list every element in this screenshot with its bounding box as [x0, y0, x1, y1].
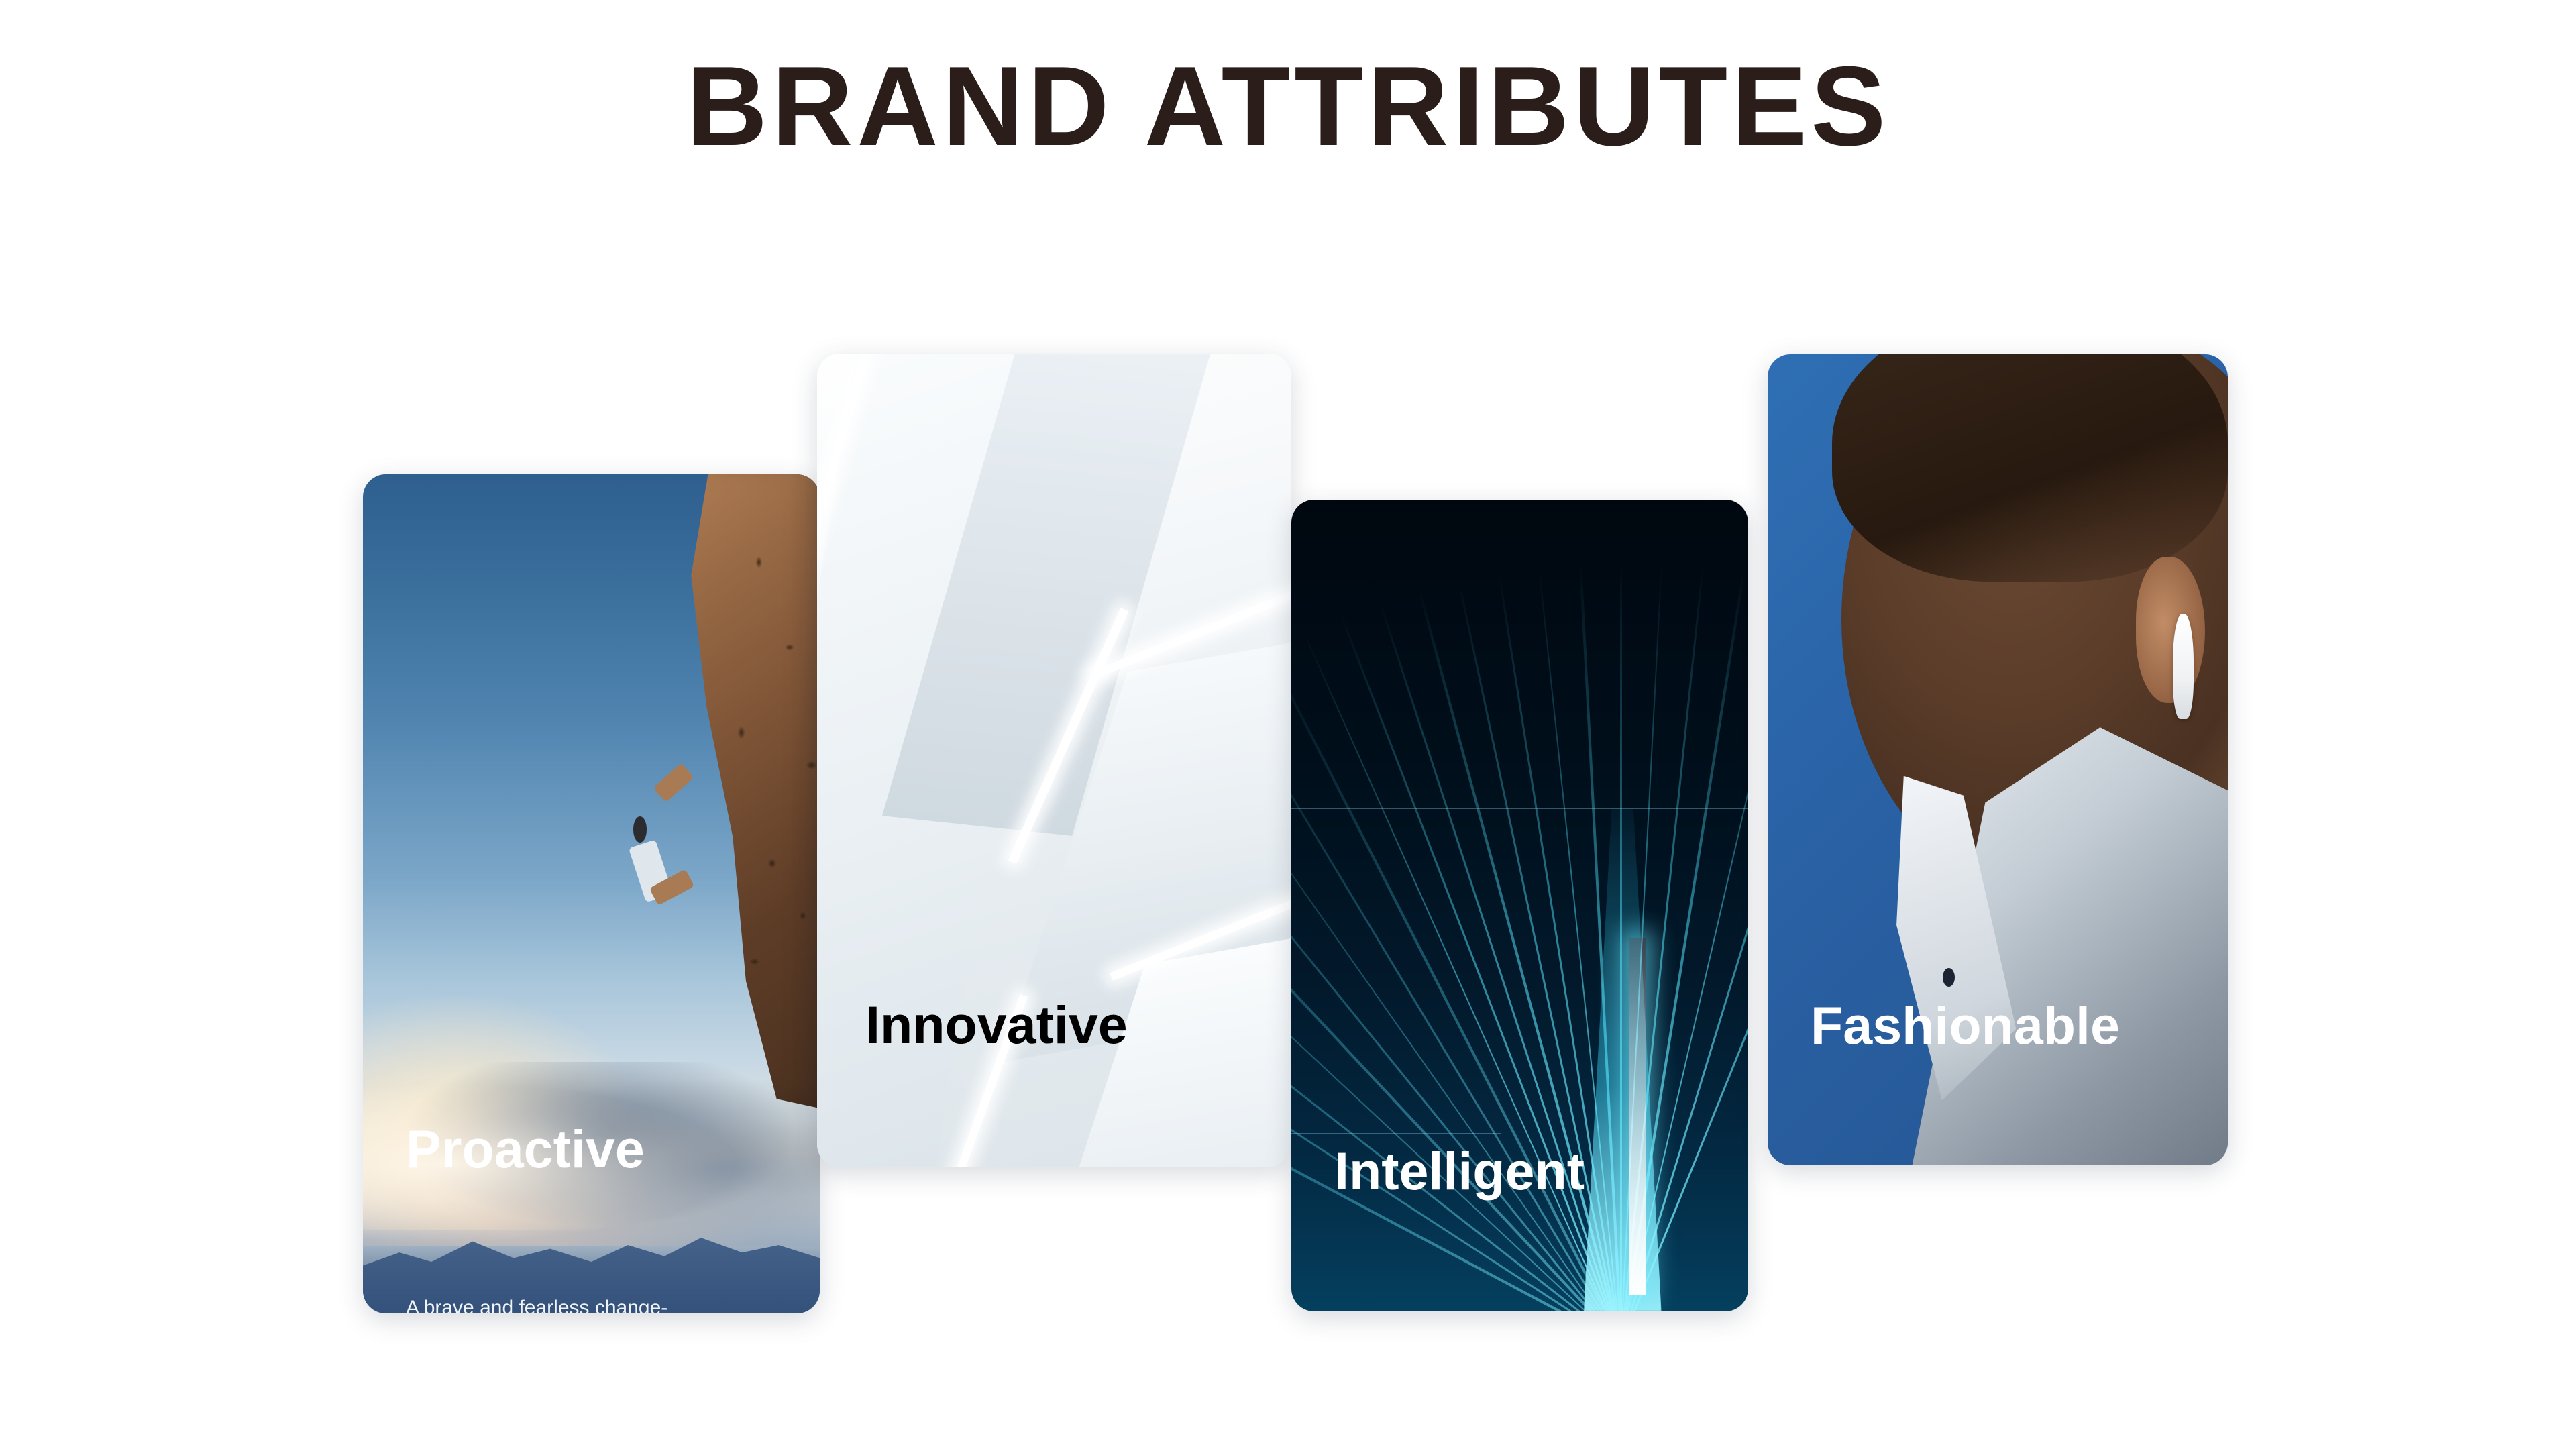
card-content-innovative: Innovative Think outside the box, approa… — [817, 354, 1291, 1167]
slide-canvas: BRAND ATTRIBUTES Proactive A brave and f… — [0, 0, 2576, 1449]
card-heading-intelligent: Intelligent — [1334, 1144, 1585, 1197]
attribute-card-innovative[interactable]: Innovative Think outside the box, approa… — [817, 354, 1291, 1167]
card-body-proactive: A brave and fearless change-maker who be… — [406, 1291, 688, 1313]
card-content-intelligent: Intelligent A profound understanding of … — [1291, 500, 1748, 1311]
card-heading-proactive: Proactive — [406, 1122, 645, 1175]
card-heading-fashionable: Fashionable — [1811, 999, 2120, 1052]
attribute-card-fashionable[interactable]: Fashionable Not afraid of change and alw… — [1768, 354, 2228, 1165]
card-content-fashionable: Fashionable Not afraid of change and alw… — [1768, 354, 2228, 1165]
card-content-proactive: Proactive A brave and fearless change-ma… — [363, 474, 820, 1313]
page-title: BRAND ATTRIBUTES — [0, 47, 2576, 165]
attribute-card-intelligent[interactable]: Intelligent A profound understanding of … — [1291, 500, 1748, 1311]
attribute-card-proactive[interactable]: Proactive A brave and fearless change-ma… — [363, 474, 820, 1313]
card-heading-innovative: Innovative — [865, 998, 1128, 1051]
